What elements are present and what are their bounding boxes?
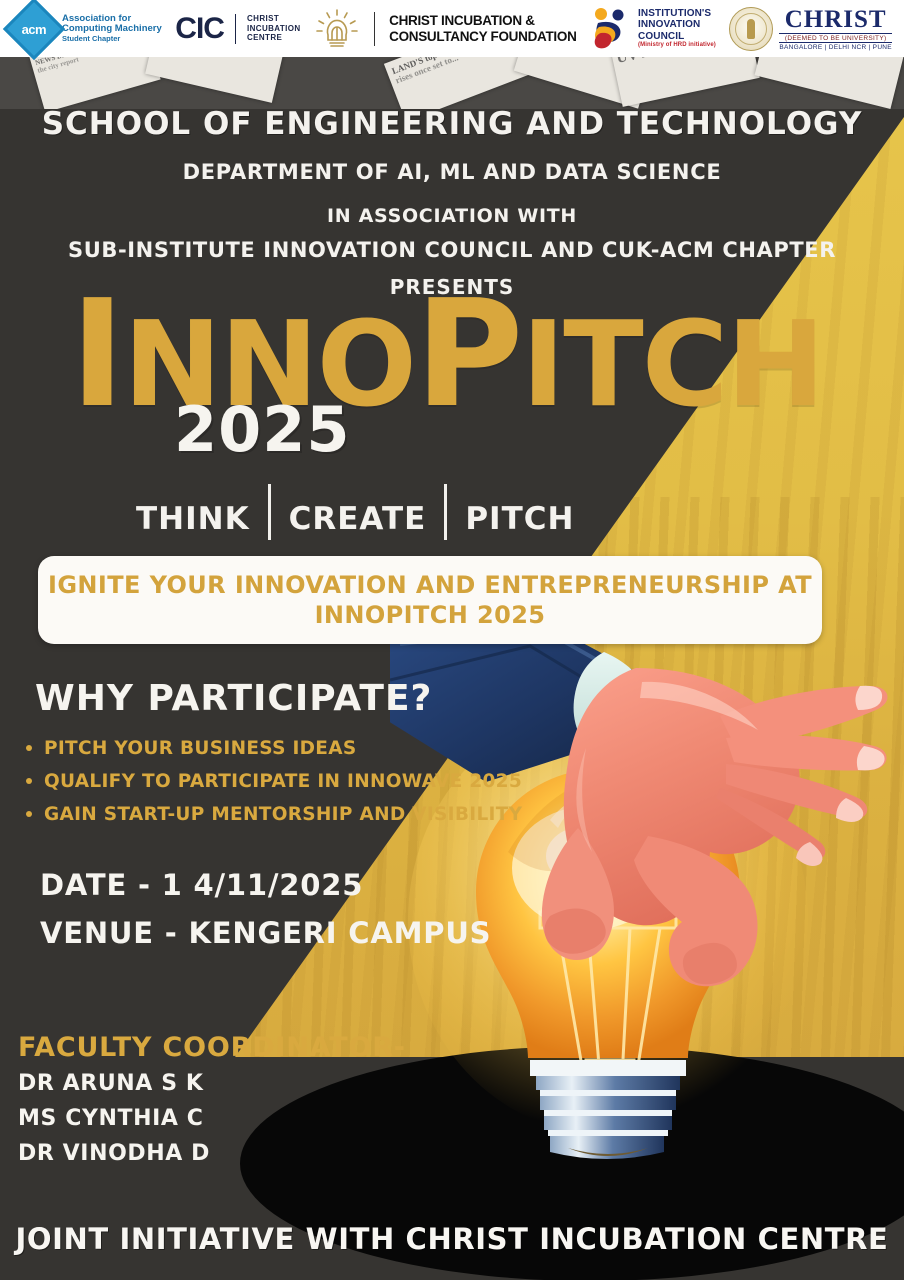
cicf-logo-text: CHRIST INCUBATION & CONSULTANCY FOUNDATI…	[389, 13, 576, 45]
tagline-word-create: CREATE	[271, 501, 445, 537]
event-year: 2025	[174, 399, 351, 461]
acm-line-3: Student Chapter	[62, 35, 162, 43]
why-participate-heading: WHY PARTICIPATE?	[35, 678, 432, 719]
header-line-2: DEPARTMENT OF AI, ML AND DATA SCIENCE	[0, 160, 904, 184]
tagline-word-pitch: PITCH	[447, 501, 592, 537]
christ-line-1: CHRIST	[779, 6, 892, 34]
title-part-itch: ITCH	[521, 295, 823, 433]
cicf-line-1: CHRIST INCUBATION &	[389, 13, 576, 29]
list-item: PITCH YOUR BUSINESS IDEAS	[22, 738, 522, 759]
iic-line-4: (Ministry of HRD initiative)	[638, 42, 716, 49]
faculty-coordinator-label: FACULTY COORDINATOR-	[18, 1032, 406, 1063]
event-date: DATE - 1 4/11/2025	[40, 868, 491, 902]
header-line-1: SCHOOL OF ENGINEERING AND TECHNOLOGY	[0, 106, 904, 142]
ignite-banner: IGNITE YOUR INNOVATION AND ENTREPRENEURS…	[38, 556, 822, 644]
tagline-word-think: THINK	[118, 501, 268, 537]
cicf-line-2: CONSULTANCY FOUNDATION	[389, 29, 576, 45]
iic-line-1: INSTITUTION'S	[638, 8, 716, 20]
iic-figure-icon	[590, 6, 632, 52]
cic-logo: CIC CHRIST INCUBATION CENTRE	[175, 12, 300, 46]
innopitch-2025-poster: acm Association for Computing Machinery …	[0, 0, 904, 1280]
faculty-name: DR VINODHA D	[18, 1141, 406, 1166]
banner-line-1: IGNITE YOUR INNOVATION AND ENTREPRENEURS…	[48, 570, 812, 600]
christ-line-2: (DEEMED TO BE UNIVERSITY)	[779, 33, 892, 43]
header-line-3: IN ASSOCIATION WITH	[0, 205, 904, 227]
title-part-i: I	[70, 268, 123, 440]
tagline: THINK CREATE PITCH	[118, 498, 678, 540]
cic-mark-label: CIC	[175, 12, 224, 46]
cic-logo-text: CHRIST INCUBATION CENTRE	[247, 14, 301, 43]
institutions-innovation-council-logo: INSTITUTION'S INNOVATION COUNCIL (Minist…	[590, 6, 716, 52]
list-item: QUALIFY TO PARTICIPATE IN INNOWAVE 2025	[22, 771, 522, 792]
faculty-name: MS CYNTHIA C	[18, 1106, 406, 1131]
iic-logo-text: INSTITUTION'S INNOVATION COUNCIL (Minist…	[638, 8, 716, 49]
christ-crest-icon	[729, 7, 773, 51]
christ-university-logo: CHRIST (DEEMED TO BE UNIVERSITY) BANGALO…	[729, 6, 892, 52]
cic-line-3: CENTRE	[247, 33, 301, 43]
event-details: DATE - 1 4/11/2025 VENUE - KENGERI CAMPU…	[40, 868, 491, 964]
cic-divider	[235, 14, 236, 44]
faculty-name: DR ARUNA S K	[18, 1071, 406, 1096]
cic-line-2: INCUBATION	[247, 24, 301, 34]
acm-diamond-icon: acm	[3, 0, 65, 60]
sponsor-logo-bar: acm Association for Computing Machinery …	[0, 0, 904, 57]
acm-mark-label: acm	[22, 21, 47, 36]
title-part-p: P	[415, 268, 521, 440]
event-venue: VENUE - KENGERI CAMPUS	[40, 916, 491, 950]
faculty-coordinator-block: FACULTY COORDINATOR- DR ARUNA S K MS CYN…	[18, 1032, 406, 1176]
lamp-icon	[314, 7, 360, 51]
event-title-block: INNOPITCH 2025	[70, 295, 770, 505]
header-line-4: SUB-INSTITUTE INNOVATION COUNCIL AND CUK…	[0, 238, 904, 262]
christ-logo-text: CHRIST (DEEMED TO BE UNIVERSITY) BANGALO…	[779, 6, 892, 52]
cicf-divider	[374, 12, 375, 46]
christ-line-3: BANGALORE | DELHI NCR | PUNE	[779, 43, 892, 51]
banner-line-2: INNOPITCH 2025	[315, 600, 546, 630]
poster-text-layer: SCHOOL OF ENGINEERING AND TECHNOLOGY DEP…	[0, 0, 904, 1280]
newspaper-texture-strip: NEWS DAILYthe city report HEADLINES LAND…	[0, 57, 904, 109]
acm-logo-text: Association for Computing Machinery Stud…	[62, 14, 162, 44]
acm-student-chapter-logo: acm Association for Computing Machinery …	[12, 7, 162, 51]
why-participate-list: PITCH YOUR BUSINESS IDEAS QUALIFY TO PAR…	[22, 738, 522, 837]
list-item: GAIN START-UP MENTORSHIP AND VISIBILITY	[22, 804, 522, 825]
iic-line-2: INNOVATION	[638, 19, 716, 31]
iic-line-3: COUNCIL	[638, 31, 716, 43]
christ-incubation-consultancy-foundation-logo: CHRIST INCUBATION & CONSULTANCY FOUNDATI…	[314, 7, 576, 51]
cic-line-1: CHRIST	[247, 14, 301, 24]
footer-text: JOINT INITIATIVE WITH CHRIST INCUBATION …	[0, 1222, 904, 1256]
